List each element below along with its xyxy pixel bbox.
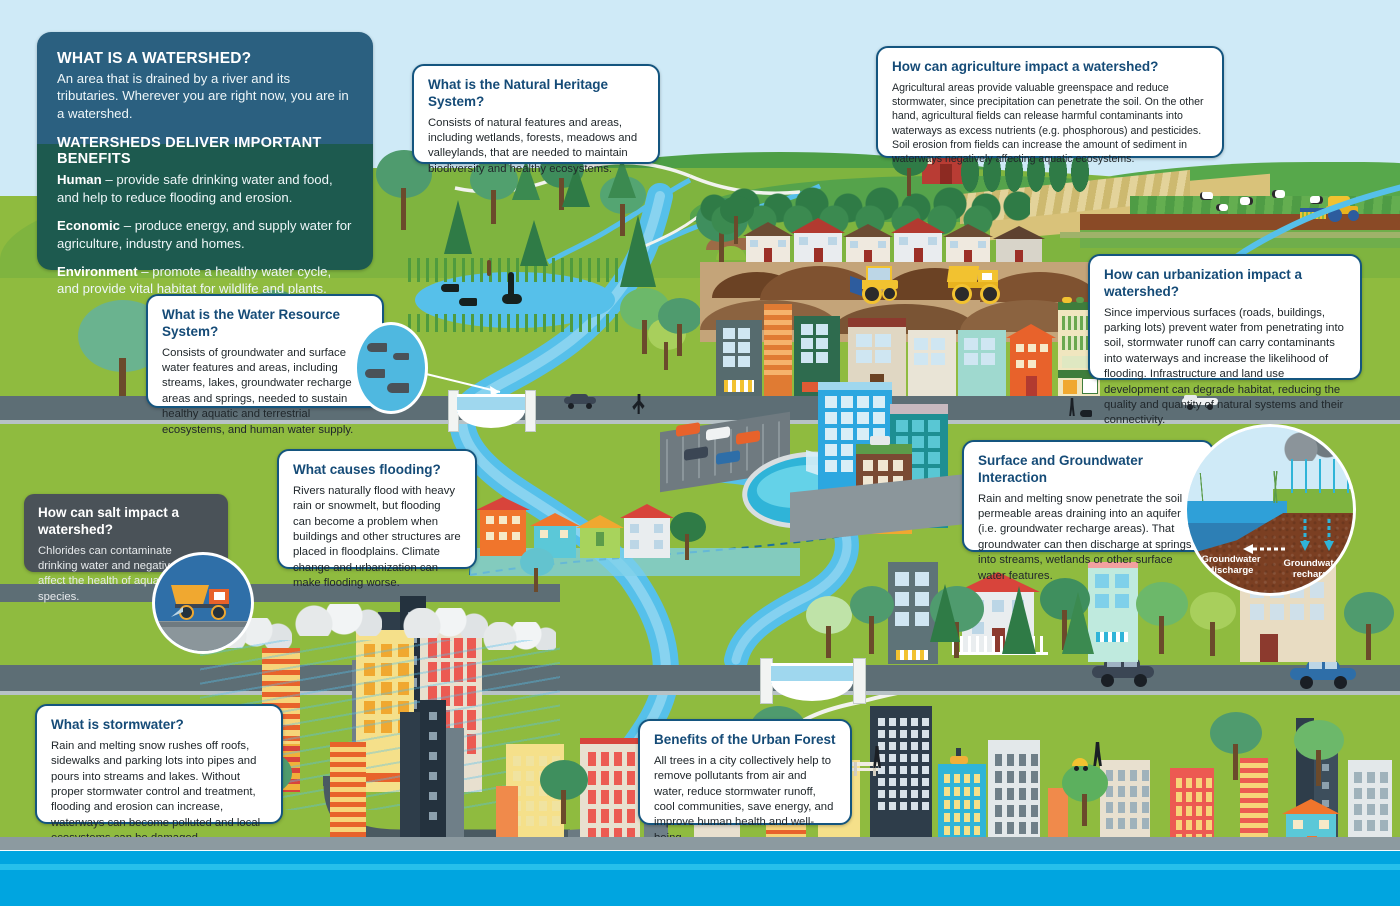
benefit-human-label: Human [57, 172, 102, 187]
benefit-environment-label: Environment [57, 264, 138, 279]
conifer-icon [1062, 592, 1094, 654]
heron-icon [502, 294, 522, 304]
cattail-icon [487, 260, 491, 276]
natural-heritage-panel: What is the Natural Heritage System? Con… [412, 64, 660, 164]
stroller-icon [1072, 758, 1090, 772]
flooding-body: Rivers naturally flood with heavy rain o… [293, 484, 461, 592]
car-icon [1290, 660, 1356, 686]
conifer-icon [620, 215, 656, 287]
tree-icon [1344, 592, 1394, 660]
gw-recharge-l2: recharge [1293, 569, 1333, 580]
dog-icon [1080, 410, 1092, 417]
dump-truck-icon [948, 266, 1000, 298]
salt-truck-inset-circle [152, 552, 254, 654]
wetland-vegetation [408, 314, 622, 332]
house-icon [846, 226, 890, 264]
agriculture-panel: How can agriculture impact a watershed? … [876, 46, 1224, 158]
urban-forest-body: All trees in a city collectively help to… [654, 754, 836, 846]
urban-forest-panel: Benefits of the Urban Forest All trees i… [638, 719, 852, 825]
skyscraper [420, 700, 446, 852]
fish-inset-circle [354, 322, 428, 414]
natural-heritage-title: What is the Natural Heritage System? [428, 77, 644, 111]
lake-highlight [0, 864, 1400, 870]
tree-icon [1294, 720, 1344, 786]
rain-cloud-icon [400, 608, 488, 638]
skyscraper [446, 728, 464, 852]
tree-icon [806, 596, 852, 658]
wetland-vegetation [408, 258, 622, 282]
car-icon [562, 394, 598, 408]
tower-pink [580, 738, 640, 852]
house-icon [894, 220, 942, 264]
flooding-title: What causes flooding? [293, 462, 461, 479]
infographic-canvas: WHAT IS A WATERSHED? An area that is dra… [0, 0, 1400, 906]
fish-icon [393, 353, 409, 360]
bridge-icon [448, 390, 534, 430]
lake-water [0, 851, 1400, 906]
tree-icon [520, 548, 554, 592]
house-icon [746, 224, 790, 264]
water-resource-title: What is the Water Resource System? [162, 307, 368, 341]
house-icon [946, 226, 990, 264]
watershed-heading-1: WHAT IS A WATERSHED? [57, 50, 353, 68]
groundwater-discharge-label: Groundwater discharge [1193, 555, 1269, 577]
urbanization-title: How can urbanization impact a watershed? [1104, 267, 1346, 301]
tree-icon [1062, 764, 1108, 826]
watershed-heading-2: WATERSHEDS DELIVER IMPORTANT BENEFITS [57, 135, 353, 167]
benefit-human: Human – provide safe drinking water and … [57, 171, 353, 206]
shoreline [0, 837, 1400, 851]
tower-red [330, 742, 366, 852]
bulldozer-icon [850, 266, 906, 296]
conifer-icon [444, 200, 472, 254]
benefit-environment: Environment – promote a healthy water cy… [57, 263, 353, 298]
apartment-building [908, 330, 956, 396]
conifer-icon [520, 220, 548, 266]
apartment-building [764, 304, 792, 396]
skyscraper [400, 712, 420, 852]
gw-recharge-l1: Groundwater [1283, 558, 1342, 569]
groundwater-recharge-label: Groundwater recharge [1275, 559, 1351, 581]
natural-heritage-body: Consists of natural features and areas, … [428, 116, 644, 177]
apartment-building [958, 330, 1006, 396]
tree-icon [658, 298, 702, 356]
stormwater-body: Rain and melting snow rushes off roofs, … [51, 739, 267, 847]
salt-truck-icon [171, 585, 235, 615]
house-icon [996, 228, 1042, 264]
stormwater-panel: What is stormwater? Rain and melting sno… [35, 704, 283, 824]
flooding-panel: What causes flooding? Rivers naturally f… [277, 449, 477, 569]
house-icon [580, 526, 620, 558]
agriculture-body: Agricultural areas provide valuable gree… [892, 81, 1208, 167]
stormwater-title: What is stormwater? [51, 717, 267, 734]
fish-icon [365, 369, 385, 378]
tree-icon [1136, 582, 1188, 654]
urbanization-panel: How can urbanization impact a watershed?… [1088, 254, 1362, 380]
tree-icon [670, 512, 706, 560]
duck-icon [459, 298, 477, 306]
gw-discharge-l1: Groundwater [1201, 554, 1260, 565]
salt-title: How can salt impact a watershed? [38, 505, 214, 539]
rain-cloud-icon [292, 604, 382, 636]
fish-icon [387, 383, 409, 393]
tree-icon [1210, 712, 1262, 780]
tree-icon [1190, 592, 1236, 656]
benefit-economic-label: Economic [57, 218, 120, 233]
watershed-panel: WHAT IS A WATERSHED? An area that is dra… [37, 32, 373, 270]
urbanization-body: Since impervious surfaces (roads, buildi… [1104, 306, 1346, 429]
groundwater-inset-circle: Groundwater discharge Groundwater rechar… [1184, 424, 1356, 596]
groundwater-title: Surface and Groundwater Interaction [978, 453, 1198, 487]
groundwater-body: Rain and melting snow penetrate the soil… [978, 492, 1198, 584]
water-resource-body: Consists of groundwater and surface wate… [162, 346, 368, 438]
conifer-icon [1002, 586, 1036, 654]
conifer-icon [930, 584, 960, 642]
gw-discharge-l2: discharge [1209, 565, 1254, 576]
duck-icon [441, 284, 459, 292]
apartment-building [716, 320, 762, 396]
bridge-icon [760, 658, 864, 702]
house-icon [624, 516, 670, 558]
house-icon [794, 220, 842, 264]
fish-icon [367, 343, 387, 352]
watershed-body-1: An area that is drained by a river and i… [57, 70, 353, 122]
tower-navy [870, 706, 932, 852]
tower-white [988, 740, 1040, 852]
house-icon [1010, 336, 1052, 396]
urban-forest-title: Benefits of the Urban Forest [654, 732, 836, 749]
agriculture-title: How can agriculture impact a watershed? [892, 59, 1208, 76]
groundwater-panel: Surface and Groundwater Interaction Rain… [962, 440, 1214, 552]
tree-icon [540, 760, 588, 824]
tree-icon [850, 586, 894, 654]
benefit-economic: Economic – produce energy, and supply wa… [57, 217, 353, 252]
water-resource-panel: What is the Water Resource System? Consi… [146, 294, 384, 408]
